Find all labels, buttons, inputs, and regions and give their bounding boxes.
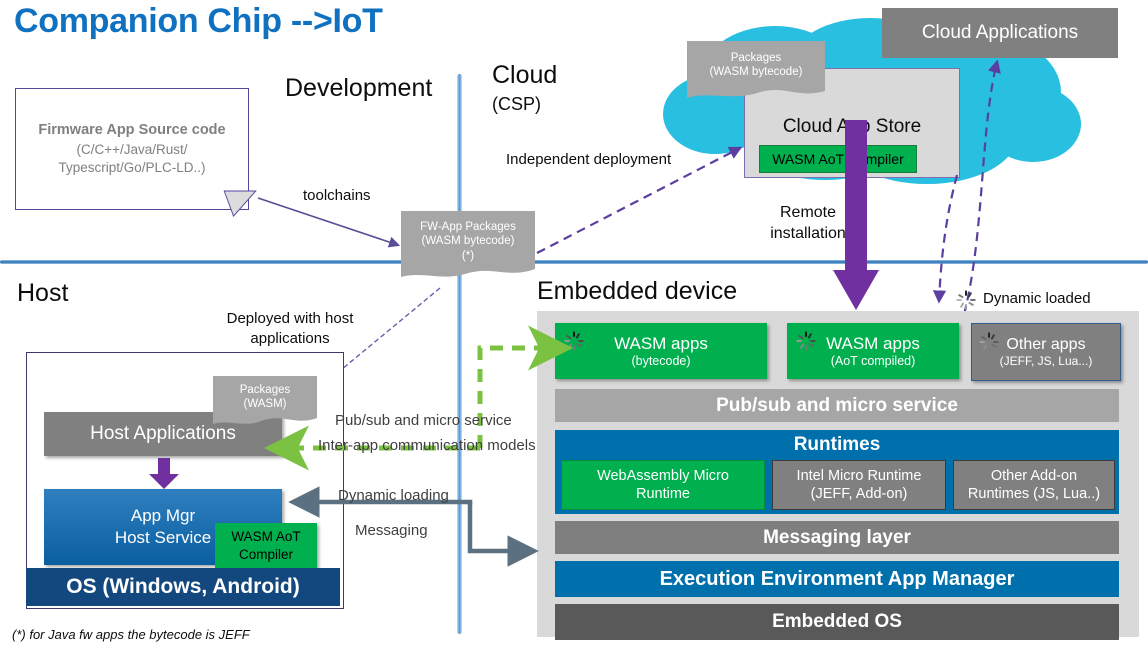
inter-app-models-label: Inter-app communication models — [318, 436, 536, 456]
toolchains-label: toolchains — [303, 186, 371, 206]
messaging-arrow — [470, 502, 531, 551]
remote-installation-line2: installation — [770, 224, 846, 245]
gray-connectors — [0, 460, 1148, 600]
independent-deployment-label: Independent deployment — [506, 150, 671, 170]
deployed-with-host-line1: Deployed with host — [227, 309, 354, 329]
cloud-applications-feedback-arrow — [964, 62, 997, 315]
footnote: (*) for Java fw apps the bytecode is JEF… — [12, 627, 250, 642]
pubsub-micro-service-label: Pub/sub and micro service — [335, 411, 512, 431]
dynamic-loading-label: Dynamic loading — [338, 486, 449, 506]
green-arrow-to-wasm-apps — [480, 348, 543, 448]
embedded-os-label: Embedded OS — [772, 611, 902, 633]
embedded-os-layer: Embedded OS — [555, 604, 1119, 640]
deployed-with-host-line2: applications — [250, 329, 329, 349]
deployed-with-host-label: Deployed with host applications — [200, 309, 380, 348]
remote-installation-line1: Remote — [780, 203, 836, 224]
remote-installation-label: Remote installation — [762, 203, 854, 245]
messaging-label: Messaging — [355, 521, 428, 541]
slide-canvas: Companion Chip -->IoT Development Cloud … — [0, 0, 1148, 653]
